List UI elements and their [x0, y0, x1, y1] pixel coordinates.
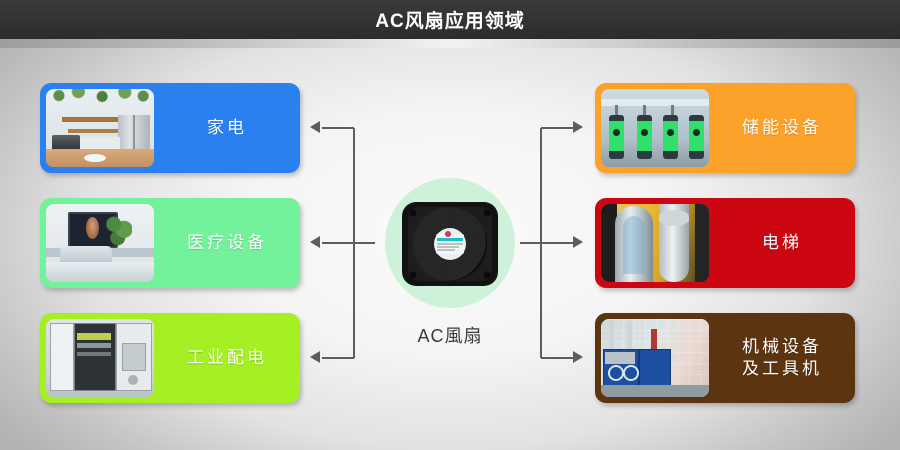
- card-label-elevator: 电梯: [709, 232, 855, 254]
- title-bar: AC风扇应用领域: [0, 0, 900, 39]
- hub-label: AC風扇: [380, 322, 520, 348]
- card-elevator[interactable]: 电梯: [595, 198, 855, 288]
- title-bar-shine: [0, 39, 900, 48]
- left-connector-branch-2: [322, 242, 375, 244]
- card-label-energy-storage: 储能设备: [709, 117, 855, 139]
- infographic-canvas: AC风扇应用领域 家电 医疗设备: [0, 0, 900, 450]
- right-connector-branch-2: [520, 242, 573, 244]
- card-label-industrial-power: 工业配电: [154, 347, 300, 369]
- left-connector-branch-3: [322, 357, 354, 359]
- arrow-left-icon: [310, 121, 320, 133]
- right-connector-branch-3: [541, 357, 573, 359]
- card-label-home-appliance: 家电: [154, 117, 300, 139]
- card-label-medical-equipment: 医疗设备: [154, 232, 300, 254]
- machinery-machine-tools-photo: [601, 319, 709, 397]
- glass-elevator-shaft-photo: [601, 204, 709, 282]
- arrow-right-icon: [573, 351, 583, 363]
- card-machinery-tools[interactable]: 机械设备 及工具机: [595, 313, 855, 403]
- card-energy-storage[interactable]: 储能设备: [595, 83, 855, 173]
- left-connector-branch-1: [322, 127, 354, 129]
- card-industrial-power[interactable]: 工业配电: [40, 313, 300, 403]
- arrow-left-icon: [310, 236, 320, 248]
- card-home-appliance[interactable]: 家电: [40, 83, 300, 173]
- industrial-power-cabinet-photo: [46, 319, 154, 397]
- ev-charging-stations-photo: [601, 89, 709, 167]
- arrow-right-icon: [573, 121, 583, 133]
- ac-fan-photo: [392, 186, 508, 302]
- medical-ultrasound-room-photo: [46, 204, 154, 282]
- page-title: AC风扇应用领域: [375, 6, 524, 33]
- arrow-right-icon: [573, 236, 583, 248]
- card-medical-equipment[interactable]: 医疗设备: [40, 198, 300, 288]
- card-label-machinery-tools: 机械设备 及工具机: [709, 336, 855, 380]
- arrow-left-icon: [310, 351, 320, 363]
- card-label-machinery-tools-line1: 机械设备: [713, 336, 851, 358]
- right-connector-branch-1: [541, 127, 573, 129]
- card-label-machinery-tools-line2: 及工具机: [713, 358, 851, 380]
- kitchen-home-appliances-photo: [46, 89, 154, 167]
